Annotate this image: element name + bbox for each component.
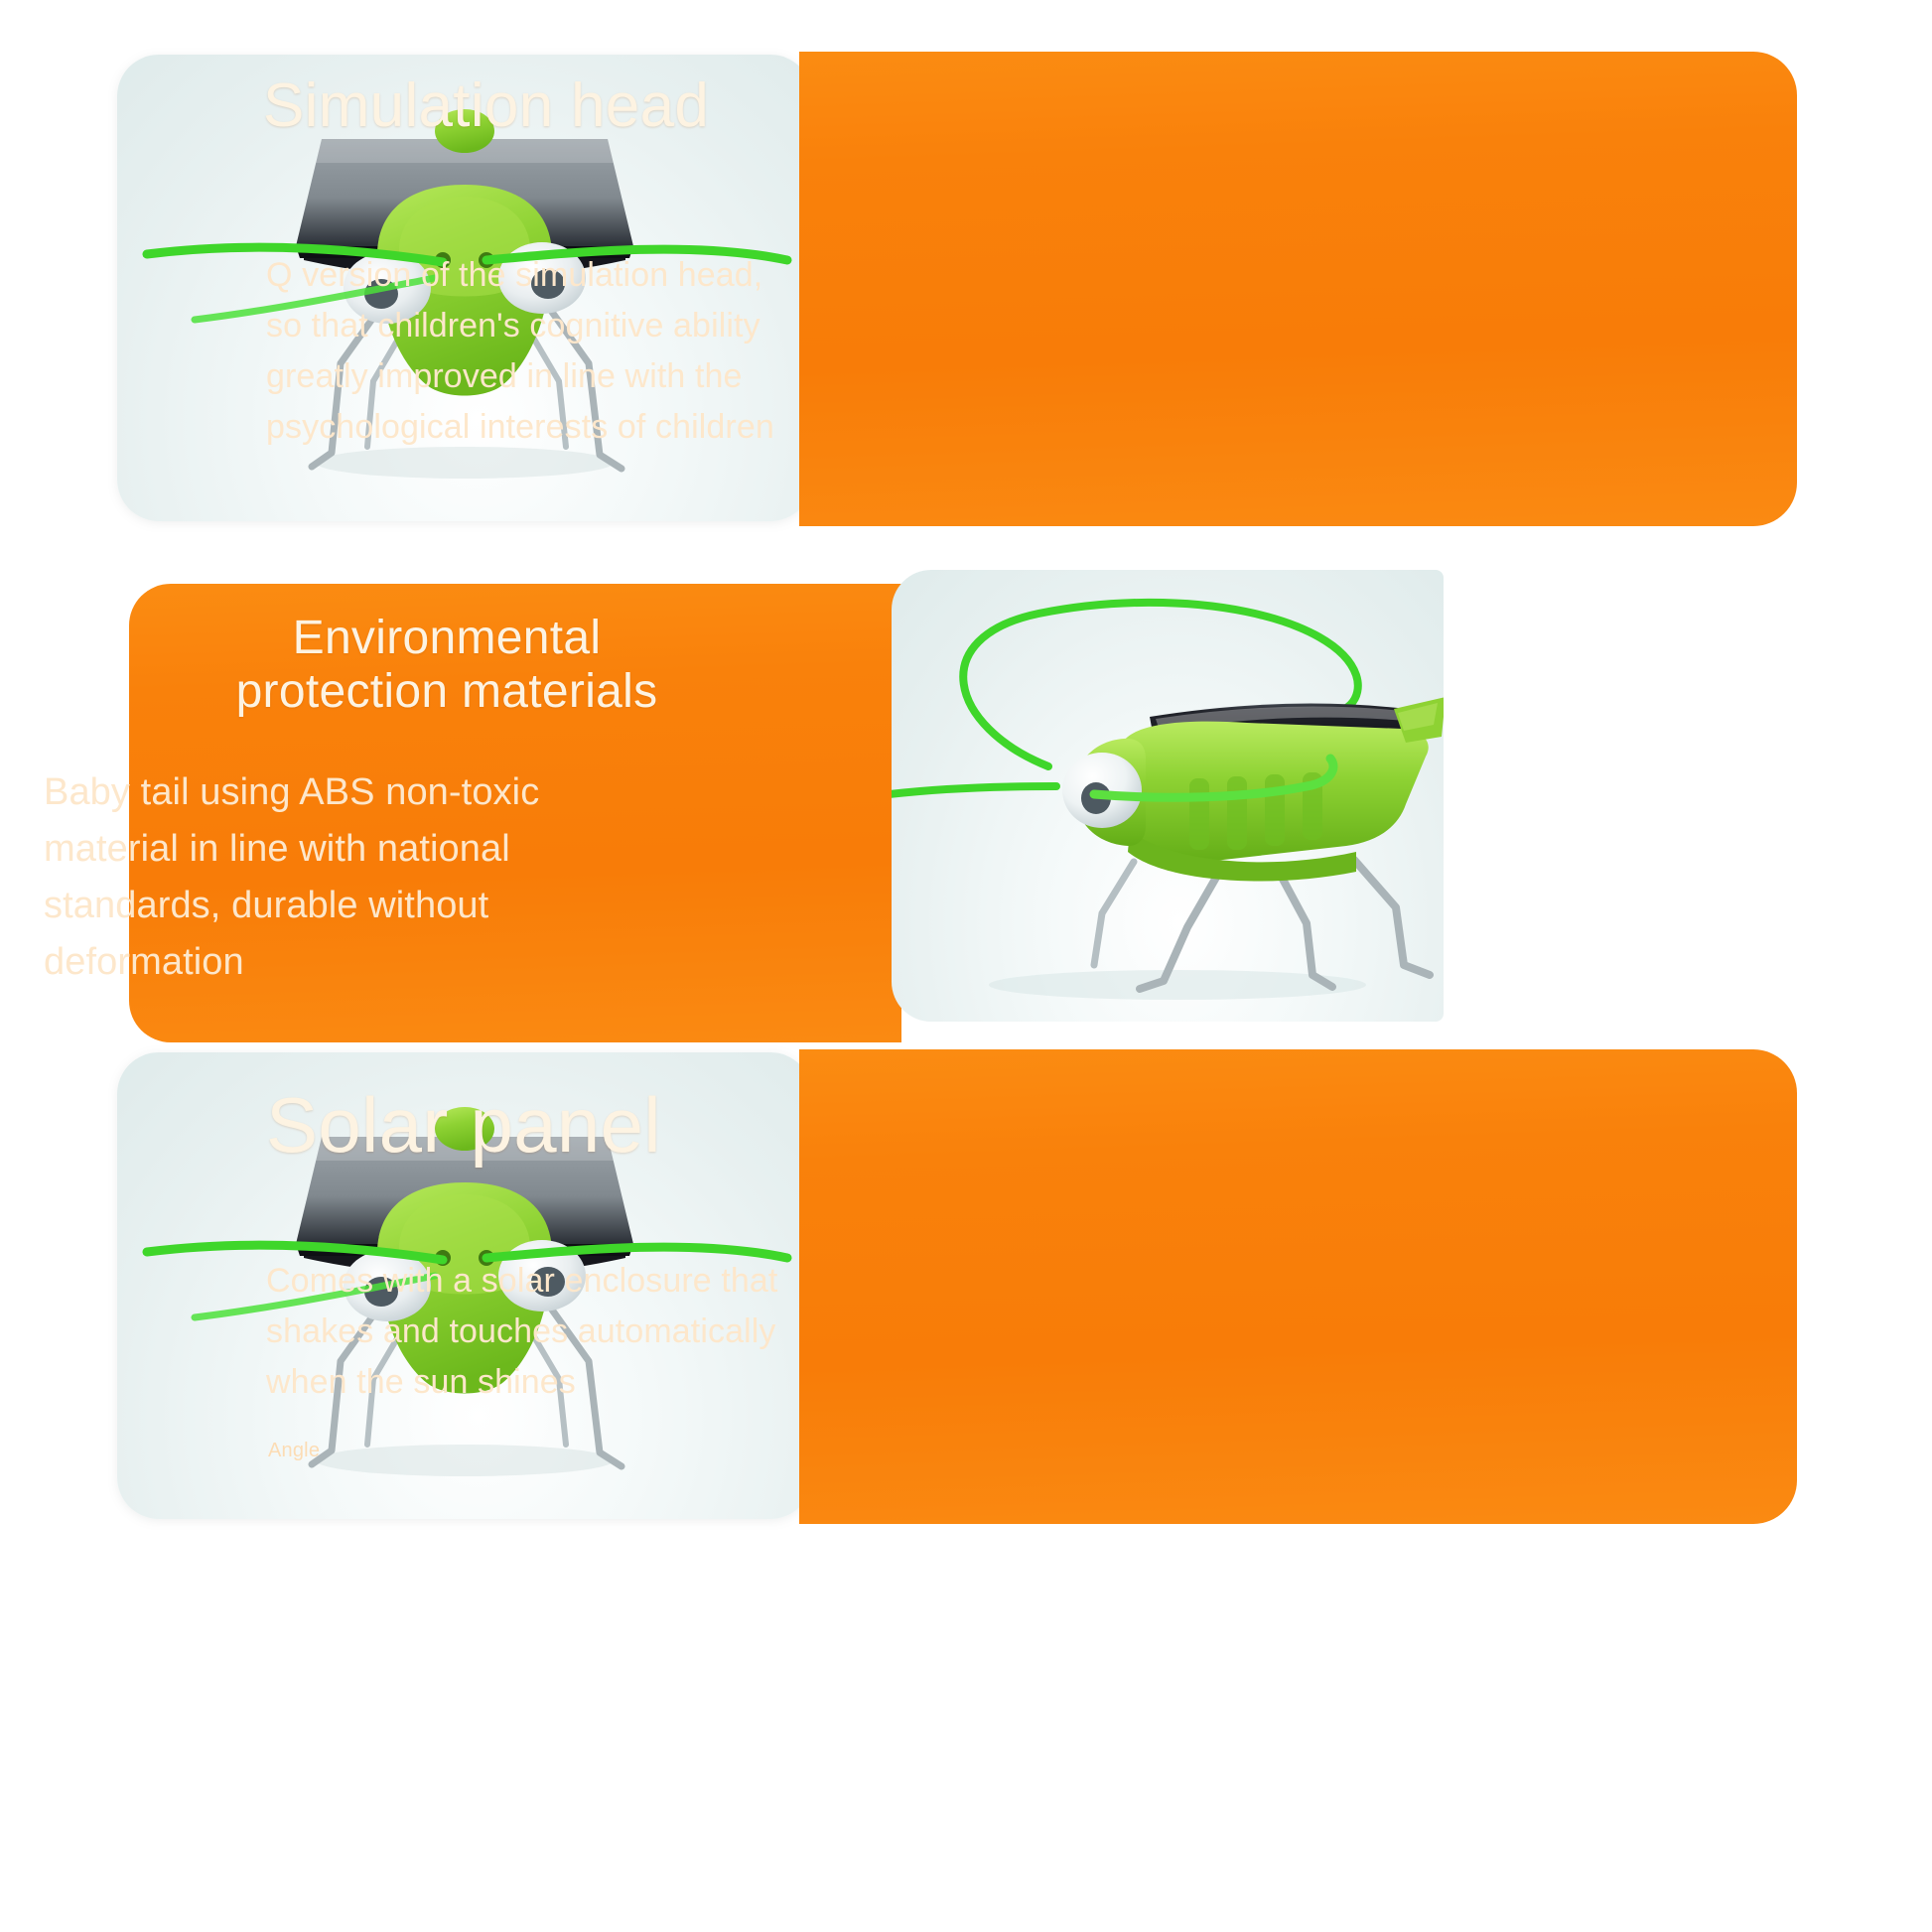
feature-text-panel-3: [799, 1049, 1797, 1524]
card-heading-1: Simulation head: [263, 71, 709, 140]
card-body-2: Baby tail using ABS non-toxic material i…: [44, 764, 699, 991]
feature-card-solar-panel: Solar panel Comes with a solar enclosure…: [0, 1052, 1932, 1608]
infographic-page: Simulation head Q version of the simulat…: [0, 0, 1932, 1932]
feature-card-simulation-head: Simulation head Q version of the simulat…: [0, 0, 1932, 556]
card-body-3: Comes with a solar enclosure that shakes…: [266, 1256, 901, 1408]
feature-card-environmental-materials: Environmental protection materials Baby …: [0, 556, 1932, 1052]
card-note-angle: Angle: [268, 1440, 320, 1462]
card-body-1: Q version of the simulation head, so tha…: [266, 250, 961, 453]
card-heading-3: Solar panel: [266, 1082, 661, 1169]
product-photo-side-view: [892, 570, 1444, 1022]
grasshopper-side-illustration: [892, 592, 1444, 1019]
card-heading-2: Environmental protection materials: [149, 612, 745, 719]
